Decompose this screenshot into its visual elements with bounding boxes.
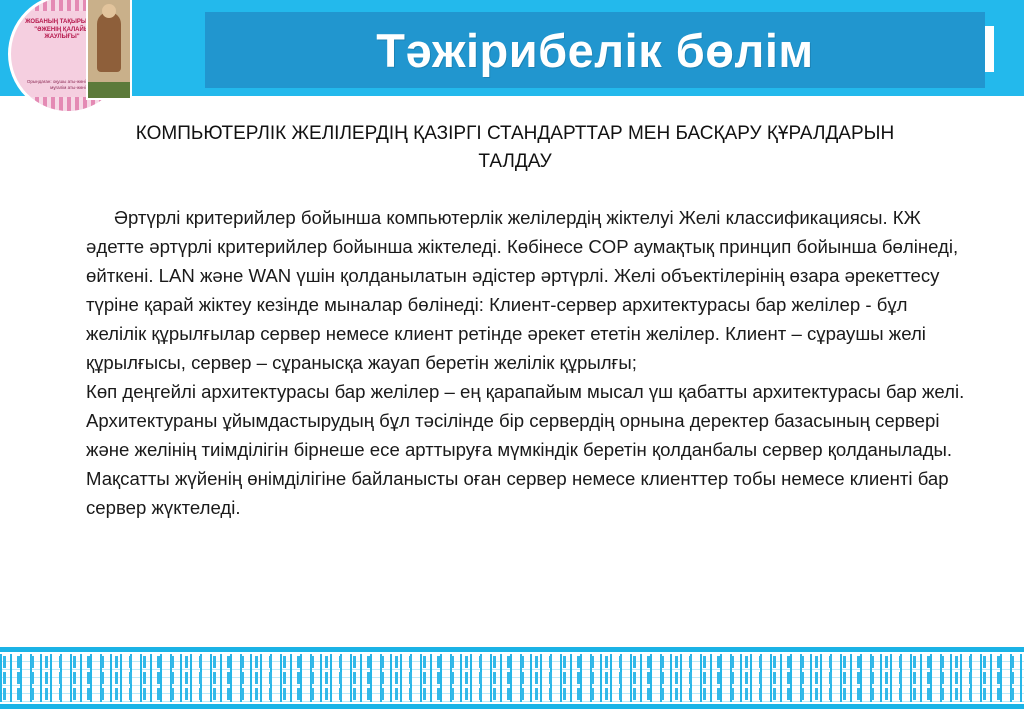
footer-top-rule bbox=[0, 647, 1024, 652]
photo-thumbnail bbox=[86, 0, 132, 100]
footer-pattern-row bbox=[0, 656, 1024, 668]
page-title: Тәжірибелік бөлім bbox=[376, 23, 813, 78]
footer-pattern-row bbox=[0, 688, 1024, 700]
body-paragraph-1: Әртүрлі критерийлер бойынша компьютерлік… bbox=[86, 203, 966, 377]
footer-pattern bbox=[0, 654, 1024, 702]
slide-title-plate: Тәжірибелік бөлім bbox=[205, 12, 985, 88]
body-paragraph-2: Көп деңгейлі архитектурасы бар желілер –… bbox=[86, 377, 966, 522]
section-heading: КОМПЬЮТЕРЛІК ЖЕЛІЛЕРДІҢ ҚАЗІРГІ СТАНДАРТ… bbox=[100, 120, 930, 175]
footer-bottom-rule bbox=[0, 704, 1024, 709]
figure-head-shape bbox=[102, 4, 116, 18]
slide-footer-ornament bbox=[0, 647, 1024, 709]
footer-pattern-row bbox=[0, 672, 1024, 684]
body-text: Әртүрлі критерийлер бойынша компьютерлік… bbox=[86, 203, 966, 522]
figure-ground-shape bbox=[88, 82, 130, 98]
figure-body-shape bbox=[97, 12, 121, 72]
header-band-right-cap bbox=[994, 26, 1024, 72]
corner-decoration: ЖОБАНЫҢ ТАҚЫРЫБЫ: "ӘЖЕНІҢ ҚАЛАЙЫ ЖАУЛЫҒЫ… bbox=[0, 0, 196, 120]
